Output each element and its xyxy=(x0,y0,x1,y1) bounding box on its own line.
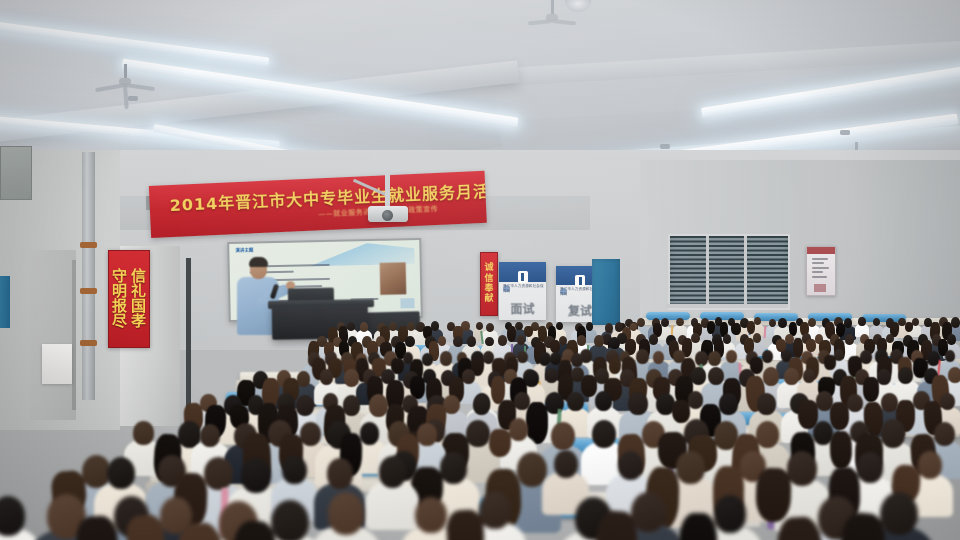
lecture-hall-photo: 2014年晋江市大中专毕业生就业服务月活动 ——就业服务进校园暨就业政策宣传 守… xyxy=(0,0,960,540)
rollup-banner: 晋江市人力资源和社会保障局 面试 xyxy=(499,262,546,320)
slogan-char: 尽 xyxy=(111,314,128,329)
audience-member-head xyxy=(628,392,648,415)
slide-image xyxy=(380,262,407,295)
audience-member-head xyxy=(808,318,816,327)
audience-member-head xyxy=(431,321,439,330)
audience-member-head xyxy=(756,421,779,447)
audience-member-head xyxy=(486,323,494,332)
audience-member-head xyxy=(661,318,669,327)
audience-member-head xyxy=(618,451,643,480)
audience-member-head xyxy=(379,456,406,488)
wall-panel-blue xyxy=(0,276,10,328)
audience-member-head xyxy=(609,337,620,349)
audience-member-head xyxy=(945,350,955,362)
rollup-banner-headline: 面试 xyxy=(499,300,546,317)
conduit-pipe xyxy=(186,258,191,408)
audience-member-head xyxy=(947,334,956,344)
audience-member-head xyxy=(551,422,575,450)
audience-member-head xyxy=(515,322,523,331)
slogan-row: 尽 孝 xyxy=(111,314,147,329)
slogan-char: 信 xyxy=(484,274,493,284)
audience-member-hair xyxy=(824,355,836,370)
ceiling-fan-icon xyxy=(96,64,154,94)
wall-notice-sheet xyxy=(42,344,72,384)
audience-member-head xyxy=(873,318,880,326)
audience-member-hair xyxy=(507,326,516,342)
audience-member-hair xyxy=(747,321,755,334)
audience-member-head xyxy=(107,457,135,489)
audience-member-head xyxy=(918,451,942,479)
slogan-char: 献 xyxy=(484,294,493,304)
audience-member-head xyxy=(595,391,613,411)
audience-member-head xyxy=(763,367,779,385)
audience-member-head xyxy=(297,371,311,387)
audience-member-hair xyxy=(489,429,512,458)
audience-member-head xyxy=(300,422,321,446)
projector-lens-icon xyxy=(382,210,393,221)
slogan-char: 诚 xyxy=(484,263,493,273)
audience-member-head xyxy=(509,418,528,440)
light-fixture-cap xyxy=(660,144,670,149)
window-blinds[interactable] xyxy=(670,236,788,308)
audience-member-head xyxy=(845,334,855,345)
audience-member-hair xyxy=(608,356,621,373)
projector-mount-pole xyxy=(385,170,390,208)
audience-member-head xyxy=(719,393,737,414)
light-fixture-cap xyxy=(128,96,138,101)
audience-member-head xyxy=(343,395,361,416)
audience-member-head xyxy=(440,452,468,484)
audience-member-head xyxy=(858,317,865,325)
poster-photo xyxy=(814,284,826,292)
audience-member-head xyxy=(723,334,731,344)
pipe-ring xyxy=(80,340,97,346)
audience-member-head xyxy=(726,350,738,364)
audience-member-hair xyxy=(580,375,597,397)
audience-member-head xyxy=(691,367,706,385)
audience-member-head xyxy=(567,392,583,411)
audience-member-head xyxy=(133,421,153,444)
audience-member-head xyxy=(757,393,776,415)
wall-column xyxy=(30,250,76,420)
audience-member-head xyxy=(940,393,955,410)
audience-member-head xyxy=(200,424,220,447)
wall-slogan-poster: 守 信 明 礼 报 国 尽 孝 xyxy=(108,250,150,348)
audience-member-head xyxy=(857,452,883,482)
audience-member-head xyxy=(453,336,463,348)
audience-member-head xyxy=(204,457,232,490)
audience-member-head xyxy=(636,349,649,364)
window-sill xyxy=(666,304,788,308)
audience-member-head xyxy=(784,368,799,385)
audience-member-head xyxy=(485,337,493,347)
audience-member-head xyxy=(524,370,538,387)
audience-member-head xyxy=(688,391,703,409)
audience-member-head xyxy=(344,369,359,387)
audience-member-head xyxy=(466,420,490,447)
audience-member-hair xyxy=(445,509,484,540)
audience-member-hair xyxy=(671,399,690,423)
audience-member-head xyxy=(631,492,666,532)
slogan-char: 孝 xyxy=(130,314,147,329)
pipe-ring xyxy=(80,242,97,248)
audience-member-hair xyxy=(830,402,849,431)
audience-member-head xyxy=(422,353,433,366)
audience-member-head xyxy=(554,450,578,478)
door[interactable] xyxy=(592,259,620,325)
audience-member-head xyxy=(328,492,365,535)
audience-member-hair xyxy=(523,326,532,338)
audience-member-head xyxy=(571,353,583,367)
wall-poster-framed xyxy=(806,246,836,296)
audience-member-head xyxy=(592,420,616,448)
audience-member-head xyxy=(479,492,511,528)
shield-logo-icon xyxy=(518,271,528,283)
audience-member-head xyxy=(282,456,306,484)
audience-member-hair xyxy=(755,468,791,523)
audience-member-head xyxy=(440,351,452,365)
electrical-box xyxy=(0,146,32,200)
audience-member-head xyxy=(347,322,355,331)
slide-callout xyxy=(400,298,414,308)
audience-member-head xyxy=(708,351,721,366)
audience-member-head xyxy=(271,500,309,540)
audience-member-head xyxy=(934,422,955,447)
audience-member-head xyxy=(327,458,354,489)
audience-member-head xyxy=(320,369,333,385)
audience-member-head xyxy=(545,368,558,383)
audience-member-torso xyxy=(366,481,419,530)
audience-member-hair xyxy=(830,431,853,470)
rollup-banner-subtitle: 晋江市人力资源和社会保障局 xyxy=(503,284,546,294)
window xyxy=(668,234,790,310)
audience-member-hair xyxy=(863,377,879,402)
audience-member-head xyxy=(473,395,490,415)
audience-member-head xyxy=(708,367,724,385)
audience-member-head xyxy=(415,497,446,533)
ceiling-fan-icon xyxy=(530,0,574,24)
audience-member-head xyxy=(586,322,594,331)
audience-member-head xyxy=(517,351,528,363)
audience-member-head xyxy=(653,351,664,364)
pipe-ring xyxy=(80,288,97,294)
audience-member-head xyxy=(476,322,483,330)
slide-title: 演讲主题 xyxy=(235,247,253,253)
audience-member-head xyxy=(881,419,905,447)
audience-member-head xyxy=(691,333,700,343)
audience-member-head xyxy=(898,367,913,384)
audience-member-head xyxy=(649,334,659,345)
audience-member-head xyxy=(787,451,817,486)
audience-member-head xyxy=(753,333,761,343)
audience-member-head xyxy=(417,423,436,445)
audience-member-head xyxy=(637,318,645,327)
slogan-char: 奉 xyxy=(484,284,493,294)
audience-member-head xyxy=(241,458,271,493)
audience-member-head xyxy=(559,336,567,346)
conduit-pipe xyxy=(82,152,95,400)
audience-member-head xyxy=(714,495,747,533)
audience-member-head xyxy=(778,318,787,328)
audience-member-head xyxy=(803,369,815,383)
audience-member-head xyxy=(676,451,705,484)
audience-member-head xyxy=(948,367,960,384)
presenter-hair xyxy=(249,257,268,267)
audience-member-head xyxy=(844,318,852,327)
audience-member-head xyxy=(594,335,604,347)
audience-member-head xyxy=(360,422,379,444)
audience-member-head xyxy=(296,395,314,416)
audience-member-head xyxy=(847,394,863,412)
audience-member-head xyxy=(762,350,773,363)
stage-slogan-poster: 诚 信 奉 献 xyxy=(480,252,498,316)
audience-member-head xyxy=(676,318,684,327)
shield-logo-icon xyxy=(575,275,585,287)
audience-member-head xyxy=(577,335,586,346)
poster-header-bar xyxy=(807,247,835,254)
audience-member-head xyxy=(860,350,872,364)
audience-member-head xyxy=(880,492,918,536)
audience-member-head xyxy=(951,317,960,327)
light-fixture-cap xyxy=(840,130,850,135)
